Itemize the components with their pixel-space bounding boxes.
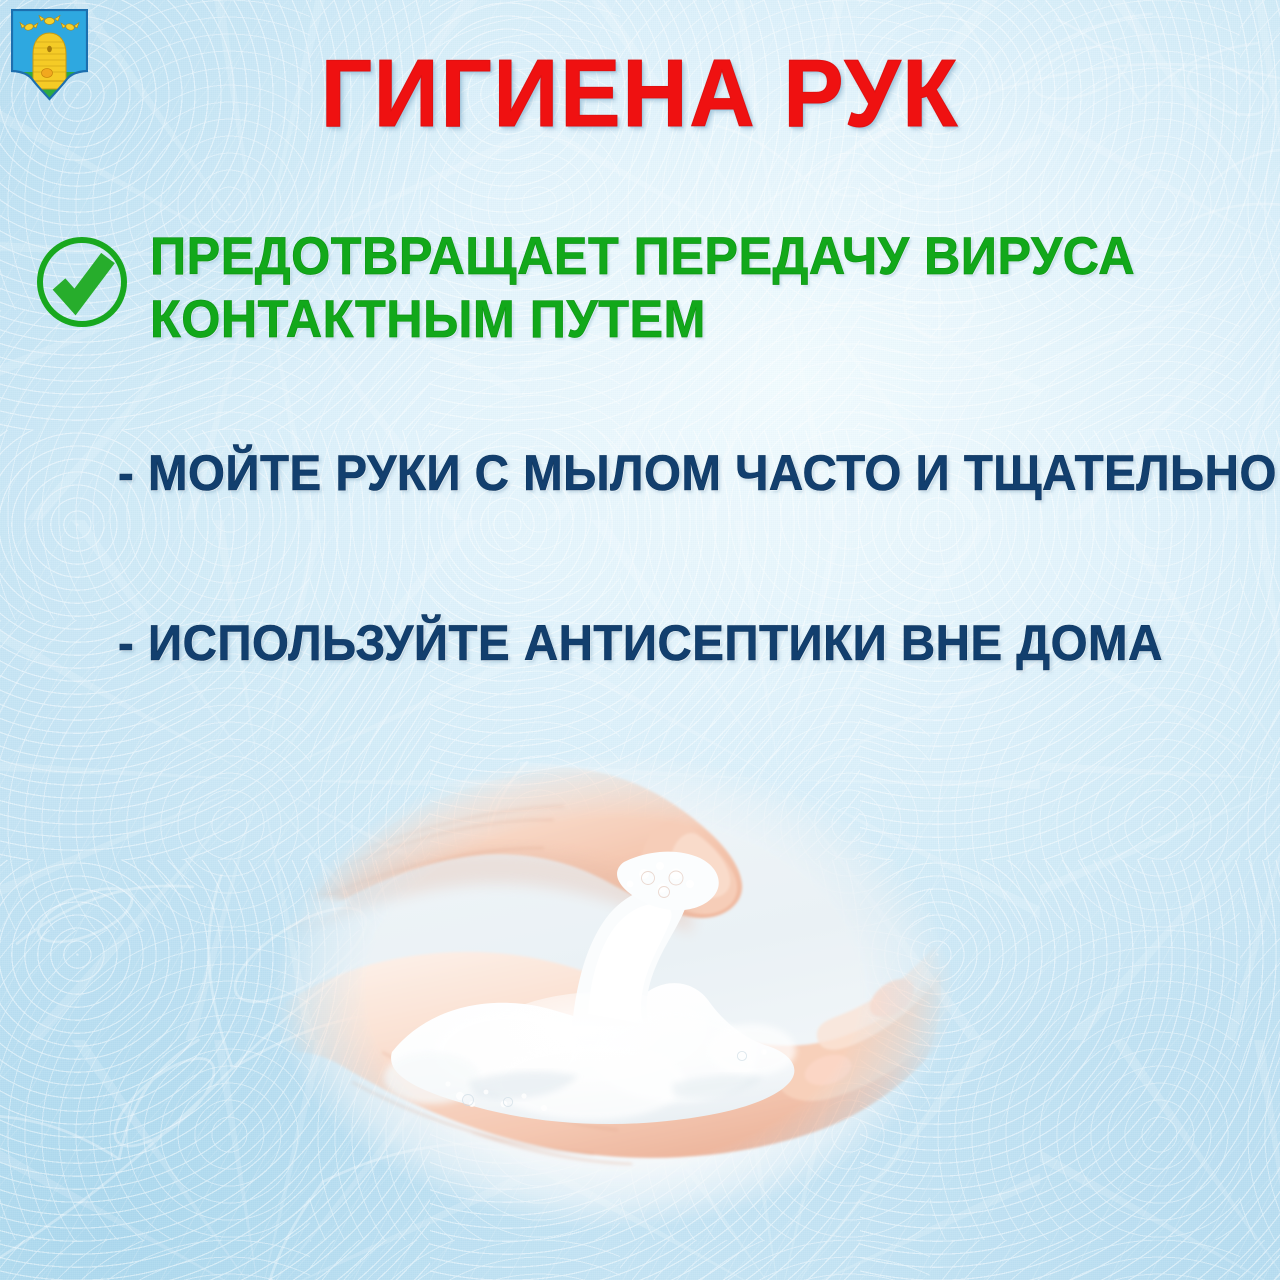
bullet-item-use-antiseptic: - ИСПОЛЬЗУЙТЕ АНТИСЕПТИКИ ВНЕ ДОМА	[118, 618, 1163, 668]
claim-line-2: КОНТАКТНЫМ ПУТЕМ	[150, 289, 1135, 352]
photo-oval-mask	[272, 752, 954, 1230]
poster-root: ГИГИЕНА РУК ПРЕДОТВРАЩАЕТ ПЕРЕДАЧУ ВИРУС…	[0, 0, 1280, 1280]
claim-text: ПРЕДОТВРАЩАЕТ ПЕРЕДАЧУ ВИРУСА КОНТАКТНЫМ…	[150, 226, 1135, 351]
claim-line-1: ПРЕДОТВРАЩАЕТ ПЕРЕДАЧУ ВИРУСА	[150, 226, 1135, 289]
check-circle-icon	[34, 236, 130, 328]
bullet-item-wash-hands: - МОЙТЕ РУКИ С МЫЛОМ ЧАСТО И ТЩАТЕЛЬНО	[118, 448, 1277, 498]
page-title: ГИГИЕНА РУК	[38, 46, 1241, 142]
claim-row: ПРЕДОТВРАЩАЕТ ПЕРЕДАЧУ ВИРУСА КОНТАКТНЫМ…	[34, 224, 1044, 351]
hands-with-soap-foam-photo	[272, 752, 954, 1230]
